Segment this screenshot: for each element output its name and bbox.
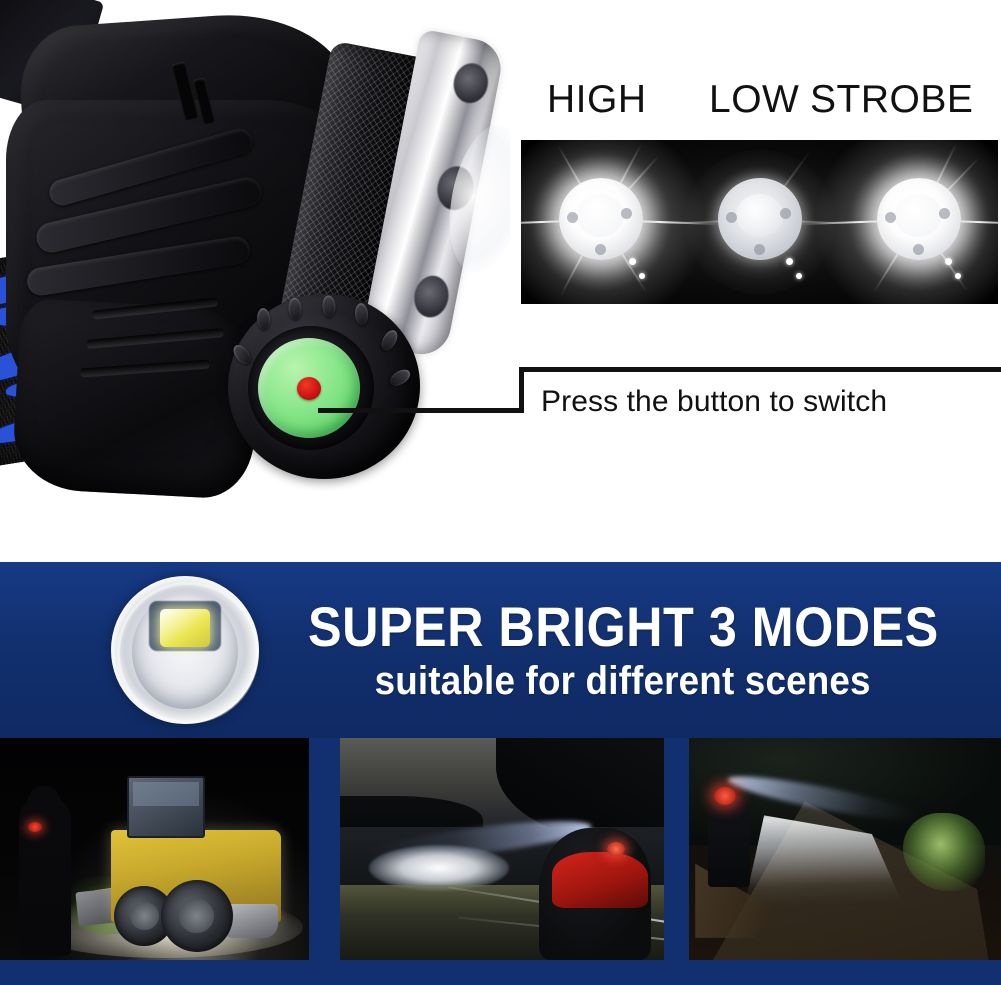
bezel-scallop-3 — [411, 273, 452, 321]
grip-bump-7 — [230, 342, 254, 367]
led-notch — [939, 208, 950, 219]
headlamp-red-indicator — [714, 787, 736, 805]
led-spark — [955, 273, 961, 279]
housing-lower-shell — [11, 298, 261, 500]
loader-cab — [127, 776, 205, 838]
loader-wheel-rear — [161, 880, 233, 952]
led-bulb-low — [718, 178, 802, 260]
led-notch — [621, 208, 632, 219]
reflector-rim — [117, 582, 259, 724]
mode-label-row: HIGH LOW STROBE — [516, 72, 1001, 128]
led-spark — [796, 273, 802, 279]
led-dome — [736, 194, 783, 237]
grip-bump-5 — [378, 328, 400, 354]
grip-bump-6 — [387, 366, 413, 389]
callout-bracket-top — [519, 367, 1001, 372]
walker-silhouette — [708, 791, 750, 887]
grip-bump-2 — [288, 297, 303, 320]
usage-photo-construction — [0, 738, 309, 960]
bezel-scallop-1 — [450, 60, 491, 106]
banner-subtitle: suitable for different scenes — [375, 659, 871, 704]
led-notch — [595, 244, 606, 255]
usage-photo-road — [689, 738, 1001, 960]
feature-banner: SUPER BRIGHT 3 MODES suitable for differ… — [0, 562, 1001, 738]
loader-rear-blade — [226, 904, 278, 938]
callout-leader-vertical — [519, 367, 524, 413]
led-spark — [629, 258, 636, 265]
led-cell-high — [521, 140, 680, 304]
mode-label-strobe: STROBE — [810, 78, 973, 122]
usage-photo-strip — [0, 738, 1001, 985]
led-dome — [577, 194, 624, 237]
led-spark — [786, 258, 793, 265]
led-notch — [567, 212, 578, 223]
led-spark — [639, 273, 645, 279]
grip-bump-1 — [256, 308, 271, 331]
led-bulb-high — [559, 178, 643, 260]
mode-label-high: HIGH — [547, 78, 647, 122]
banner-text-block: SUPER BRIGHT 3 MODES suitable for differ… — [245, 572, 1001, 730]
power-indicator-dot — [297, 377, 321, 400]
product-infographic: HIGH LOW STROBE — [0, 0, 1001, 985]
led-dome — [895, 194, 942, 237]
usage-photo-fishing — [340, 738, 664, 960]
led-spark — [945, 258, 952, 265]
led-reflector-icon — [111, 576, 259, 724]
headlamp-product-photo — [0, 0, 510, 554]
led-notch — [885, 212, 896, 223]
mode-label-low: LOW — [709, 78, 799, 122]
headlamp-red-indicator — [28, 822, 42, 832]
top-section: HIGH LOW STROBE — [0, 0, 1001, 562]
grip-bump-3 — [322, 295, 337, 318]
led-notch — [780, 208, 791, 219]
led-modes-panel — [521, 140, 998, 304]
led-notch — [913, 244, 924, 255]
led-cell-strobe — [839, 140, 998, 304]
headlamp-red-indicator — [607, 842, 625, 856]
callout-leader-horizontal — [318, 408, 524, 413]
led-notch — [726, 212, 737, 223]
grip-bump-4 — [354, 303, 369, 326]
led-notch — [754, 244, 765, 255]
banner-title: SUPER BRIGHT 3 MODES — [308, 598, 939, 655]
led-bulb-strobe — [877, 178, 961, 260]
person-silhouette — [19, 796, 71, 956]
angler-red-jacket — [552, 852, 648, 908]
callout-text: Press the button to switch — [541, 374, 1001, 430]
